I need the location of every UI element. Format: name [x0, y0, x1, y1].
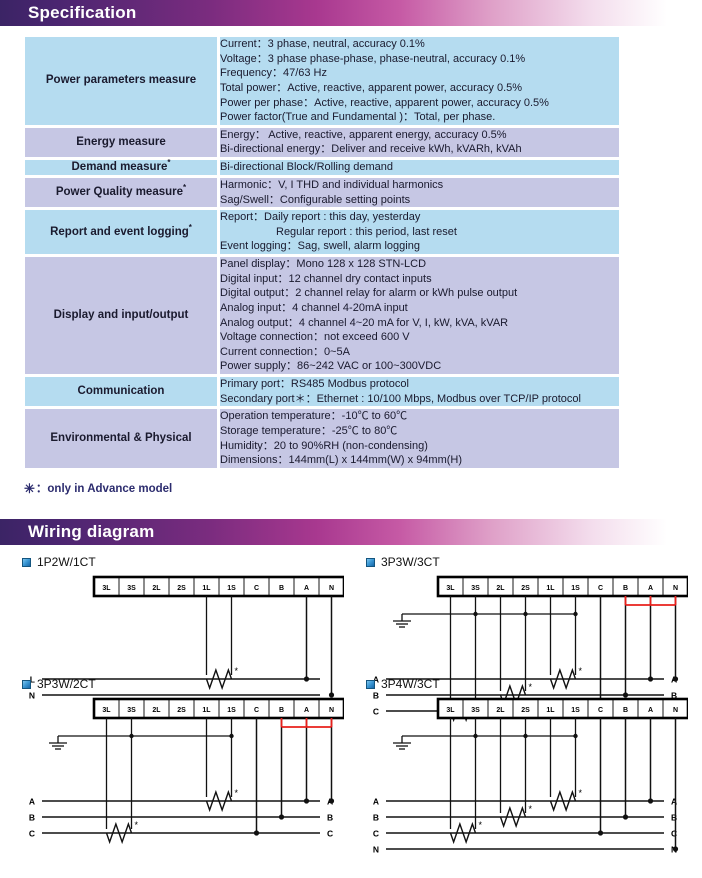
advance-model-star-icon: * — [183, 183, 186, 192]
wiring-diagram-title: 3P3W/2CT — [14, 677, 344, 691]
wiring-diagram-title: 3P3W/3CT — [358, 555, 688, 569]
spec-value-line: Storage temperature：-25℃ to 80℃ — [220, 424, 619, 439]
wiring-diagram-3p3w-2ct: 3P3W/2CT3L3S2L2S1L1SCBANABCABC** — [14, 677, 344, 878]
terminal-label: C — [598, 585, 603, 592]
spec-row-label-text: Power Quality measure — [56, 186, 183, 198]
terminal-label: 2L — [152, 585, 161, 592]
spec-row-label: Environmental & Physical — [25, 409, 217, 468]
junction-dot — [648, 798, 653, 803]
terminal-label: B — [279, 707, 284, 714]
spec-value-line: Dimensions：144mm(L) x 144mm(W) x 94mm(H) — [220, 453, 619, 468]
spec-value-line: Report：Daily report : this day, yesterda… — [220, 210, 619, 225]
spec-value-line: Operation temperature：-10℃ to 60℃ — [220, 409, 619, 424]
wiring-diagram-title: 3P4W/3CT — [358, 677, 688, 691]
terminal-label: N — [329, 707, 334, 714]
spec-value-line: Bi-directional energy：Deliver and receiv… — [220, 142, 619, 157]
spec-row-label: Communication — [25, 377, 217, 406]
spec-row: Environmental & PhysicalOperation temper… — [25, 409, 619, 468]
terminal-label: N — [673, 585, 678, 592]
spec-row: Demand measure*Bi-directional Block/Roll… — [25, 160, 619, 175]
spec-value-line: Power supply：86~242 VAC or 100~300VDC — [220, 359, 619, 374]
phase-line-label-left: B — [373, 812, 379, 822]
spec-row-label-text: Communication — [78, 385, 165, 397]
spec-value-line: Voltage：3 phase phase-phase, phase-neutr… — [220, 52, 619, 67]
terminal-label: 1S — [571, 707, 580, 714]
terminal-label: 3L — [102, 707, 111, 714]
spec-row-label: Energy measure — [25, 128, 217, 157]
advance-model-star-icon: * — [189, 223, 192, 232]
spec-row-value: Primary port：RS485 Modbus protocolSecond… — [220, 377, 619, 406]
terminal-label: 1S — [571, 585, 580, 592]
junction-dot — [523, 612, 527, 616]
terminal-label: 2L — [496, 707, 505, 714]
terminal-label: 2L — [152, 707, 161, 714]
terminal-label: 2S — [177, 585, 186, 592]
spec-row-value: Panel display：Mono 128 x 128 STN-LCDDigi… — [220, 257, 619, 374]
spec-row: Power Quality measure*Harmonic：V, I THD … — [25, 178, 619, 207]
phase-line-label-left: N — [373, 844, 379, 854]
phase-line-label-left: C — [29, 828, 35, 838]
terminal-label: 2S — [521, 707, 530, 714]
wiring-diagram-title-text: 3P4W/3CT — [381, 677, 440, 691]
ct-polarity-mark: * — [135, 820, 139, 830]
junction-dot — [473, 612, 477, 616]
spec-value-line: Analog input：4 channel 4-20mA input — [220, 301, 619, 316]
terminal-label: N — [673, 707, 678, 714]
phase-line-label-right: B — [327, 812, 333, 822]
spec-value-line: Frequency：47/63 Hz — [220, 66, 619, 81]
spec-row-value: Energy： Active, reactive, apparent energ… — [220, 128, 619, 157]
phase-line-label-left: A — [373, 796, 379, 806]
spec-row-label-text: Environmental & Physical — [50, 432, 191, 444]
terminal-label: 3L — [446, 585, 455, 592]
ct-polarity-mark: * — [579, 788, 583, 798]
junction-dot — [473, 734, 477, 738]
spec-row-label-text: Display and input/output — [54, 309, 189, 321]
spec-row-label-text: Demand measure — [72, 161, 168, 173]
terminal-label: 1S — [227, 707, 236, 714]
spec-value-line: Panel display：Mono 128 x 128 STN-LCD — [220, 257, 619, 272]
spec-row-label-text: Report and event logging — [50, 226, 189, 238]
spec-value-line: Current connection：0~5A — [220, 345, 619, 360]
terminal-label: 1L — [546, 707, 555, 714]
spec-row-value: Operation temperature：-10℃ to 60℃Storage… — [220, 409, 619, 468]
spec-value-line: Primary port：RS485 Modbus protocol — [220, 377, 619, 392]
wiring-schematic: 3L3S2L2S1L1SCBANABCABC** — [14, 693, 344, 878]
wiring-diagram-banner: Wiring diagram — [0, 519, 702, 545]
spec-row-value: Bi-directional Block/Rolling demand — [220, 160, 619, 175]
spec-row-value: Harmonic：V, I THD and individual harmoni… — [220, 178, 619, 207]
spec-row: Report and event logging*Report：Daily re… — [25, 210, 619, 254]
junction-dot — [229, 734, 233, 738]
terminal-label: A — [648, 707, 653, 714]
junction-dot — [329, 798, 334, 803]
spec-value-line: Sag/Swell：Configurable setting points — [220, 193, 619, 208]
terminal-label: 3S — [471, 707, 480, 714]
wiring-diagram-section: Wiring diagram 1P2W/1CT3L3S2L2S1L1SCBANL… — [0, 519, 702, 795]
junction-dot — [598, 830, 603, 835]
spec-row-label: Display and input/output — [25, 257, 217, 374]
spec-value-line: Regular report : this period, last reset — [220, 225, 619, 240]
ct-polarity-mark: * — [579, 666, 583, 676]
wiring-schematic: 3L3S2L2S1L1SCBANABCNABCN*** — [358, 693, 688, 878]
spec-row-value: Current：3 phase, neutral, accuracy 0.1%V… — [220, 37, 619, 125]
junction-dot — [623, 814, 628, 819]
junction-dot — [279, 814, 284, 819]
ct-polarity-mark: * — [479, 820, 483, 830]
cube-bullet-icon — [22, 680, 31, 689]
ct-polarity-mark: * — [529, 804, 533, 814]
specification-banner: Specification — [0, 0, 702, 26]
phase-line-label-right: C — [327, 828, 333, 838]
spec-row-label: Report and event logging* — [25, 210, 217, 254]
phase-line-label-left: C — [373, 828, 379, 838]
phase-line-label-left: A — [29, 796, 35, 806]
junction-dot — [573, 612, 577, 616]
terminal-label: 3S — [127, 585, 136, 592]
wiring-diagram-title: 1P2W/1CT — [14, 555, 344, 569]
spec-row-label: Power parameters measure — [25, 37, 217, 125]
spec-value-line: Digital input：12 channel dry contact inp… — [220, 272, 619, 287]
terminal-label: C — [598, 707, 603, 714]
junction-dot — [523, 734, 527, 738]
spec-row: Display and input/outputPanel display：Mo… — [25, 257, 619, 374]
spec-value-line: Analog output：4 channel 4~20 mA for V, I… — [220, 316, 619, 331]
junction-dot — [573, 734, 577, 738]
terminal-label: 2S — [177, 707, 186, 714]
spec-row: CommunicationPrimary port：RS485 Modbus p… — [25, 377, 619, 406]
spec-value-line: Voltage connection：not exceed 600 V — [220, 330, 619, 345]
wiring-diagram-banner-title: Wiring diagram — [28, 522, 154, 542]
spec-row-label: Demand measure* — [25, 160, 217, 175]
advance-model-footnote: ✳：only in Advance model — [24, 480, 702, 497]
terminal-label: B — [623, 707, 628, 714]
spec-value-line: Energy： Active, reactive, apparent energ… — [220, 128, 619, 143]
spec-value-line: Harmonic：V, I THD and individual harmoni… — [220, 178, 619, 193]
spec-row: Energy measureEnergy： Active, reactive, … — [25, 128, 619, 157]
specification-table: Power parameters measureCurrent：3 phase,… — [22, 34, 622, 471]
spec-value-line: Total power：Active, reactive, apparent p… — [220, 81, 619, 96]
spec-value-line: Secondary port＊：Ethernet : 10/100 Mbps, … — [220, 392, 619, 407]
terminal-label: 1L — [202, 585, 211, 592]
terminal-label: C — [254, 585, 259, 592]
specification-table-body: Power parameters measureCurrent：3 phase,… — [25, 37, 619, 468]
junction-dot — [673, 846, 678, 851]
junction-dot — [254, 830, 259, 835]
terminal-label: 3S — [127, 707, 136, 714]
spec-value-line: Current：3 phase, neutral, accuracy 0.1% — [220, 37, 619, 52]
spec-row-label: Power Quality measure* — [25, 178, 217, 207]
wiring-diagram-grid: 1P2W/1CT3L3S2L2S1L1SCBANLN*3P3W/3CT3L3S2… — [0, 555, 702, 795]
terminal-label: 2L — [496, 585, 505, 592]
ct-polarity-mark: * — [235, 666, 239, 676]
terminal-label: B — [623, 585, 628, 592]
spec-value-line: Power factor(True and Fundamental )：Tota… — [220, 110, 619, 125]
cube-bullet-icon — [366, 680, 375, 689]
terminal-label: 3L — [102, 585, 111, 592]
terminal-label: 1L — [546, 585, 555, 592]
cube-bullet-icon — [22, 558, 31, 567]
terminal-label: 3S — [471, 585, 480, 592]
wiring-diagram-3p4w-3ct: 3P4W/3CT3L3S2L2S1L1SCBANABCNABCN*** — [358, 677, 688, 878]
spec-value-line: Event logging：Sag, swell, alarm logging — [220, 239, 619, 254]
terminal-label: N — [329, 585, 334, 592]
asterisk-icon: ✳ — [24, 481, 35, 496]
wiring-diagram-title-text: 3P3W/2CT — [37, 677, 96, 691]
terminal-label: 1S — [227, 585, 236, 592]
terminal-label: A — [648, 585, 653, 592]
ct-polarity-mark: * — [235, 788, 239, 798]
terminal-label: A — [304, 585, 309, 592]
spec-row-label-text: Power parameters measure — [46, 74, 196, 86]
spec-value-line: Power per phase：Active, reactive, appare… — [220, 96, 619, 111]
advance-model-footnote-text: ：only in Advance model — [36, 483, 172, 495]
terminal-label: 1L — [202, 707, 211, 714]
wiring-diagram-title-text: 1P2W/1CT — [37, 555, 96, 569]
cube-bullet-icon — [366, 558, 375, 567]
junction-dot — [129, 734, 133, 738]
terminal-label: 2S — [521, 585, 530, 592]
terminal-label: C — [254, 707, 259, 714]
wiring-diagram-title-text: 3P3W/3CT — [381, 555, 440, 569]
spec-value-line: Digital output：2 channel relay for alarm… — [220, 286, 619, 301]
spec-value-line: Bi-directional Block/Rolling demand — [220, 160, 619, 175]
terminal-label: 3L — [446, 707, 455, 714]
specification-banner-title: Specification — [28, 3, 136, 23]
terminal-label: A — [304, 707, 309, 714]
spec-value-line: Humidity：20 to 90%RH (non-condensing) — [220, 439, 619, 454]
spec-row-value: Report：Daily report : this day, yesterda… — [220, 210, 619, 254]
advance-model-star-icon: * — [167, 158, 170, 167]
phase-line-label-left: B — [29, 812, 35, 822]
spec-row: Power parameters measureCurrent：3 phase,… — [25, 37, 619, 125]
junction-dot — [304, 798, 309, 803]
terminal-label: B — [279, 585, 284, 592]
spec-row-label-text: Energy measure — [76, 136, 166, 148]
